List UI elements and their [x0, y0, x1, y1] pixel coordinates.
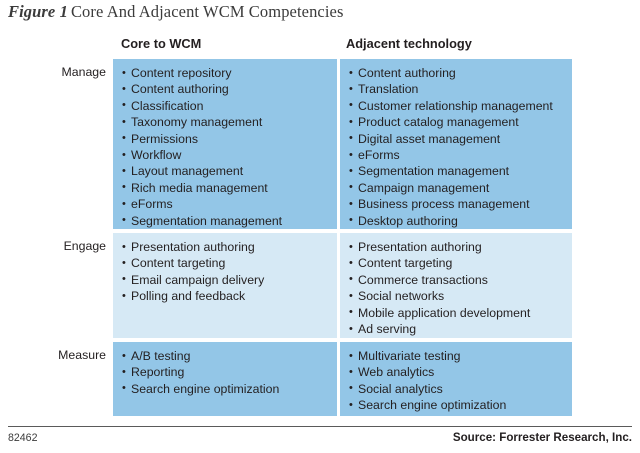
list-item: Layout management	[122, 163, 329, 179]
list-item: Presentation authoring	[122, 239, 329, 255]
list-measure-core: A/B testing Reporting Search engine opti…	[122, 348, 329, 397]
row-label-engage: Engage	[64, 239, 106, 253]
cell-manage-adjacent: Content authoring Translation Customer r…	[340, 59, 572, 229]
list-item: eForms	[349, 147, 564, 163]
row-label-measure: Measure	[58, 348, 106, 362]
matrix-row-engage: Presentation authoring Content targeting…	[113, 233, 572, 338]
figure-container: Figure 1Core And Adjacent WCM Competenci…	[0, 0, 640, 453]
list-item: Content targeting	[349, 255, 564, 271]
list-item: Desktop authoring	[349, 213, 564, 229]
cell-measure-adjacent: Multivariate testing Web analytics Socia…	[340, 342, 572, 416]
list-item: Social networks	[349, 288, 564, 304]
row-label-manage: Manage	[62, 65, 106, 79]
list-item: Classification	[122, 98, 329, 114]
list-item: Taxonomy management	[122, 114, 329, 130]
competency-matrix: Content repository Content authoring Cla…	[113, 59, 572, 420]
list-item: Content authoring	[349, 65, 564, 81]
matrix-row-measure: A/B testing Reporting Search engine opti…	[113, 342, 572, 416]
list-item: Translation	[349, 81, 564, 97]
list-item: eForms	[122, 196, 329, 212]
figure-title-text: Core And Adjacent WCM Competencies	[71, 2, 344, 21]
list-item: Customer relationship management	[349, 98, 564, 114]
footer-figure-number: 82462	[8, 432, 37, 444]
list-item: Commerce transactions	[349, 272, 564, 288]
list-item: Segmentation management	[349, 163, 564, 179]
cell-engage-core: Presentation authoring Content targeting…	[113, 233, 337, 338]
column-header-row: Core to WCM Adjacent technology	[113, 36, 572, 56]
footer-divider	[8, 426, 632, 427]
list-item: Content targeting	[122, 255, 329, 271]
list-item: Segmentation management	[122, 213, 329, 229]
list-item: Product catalog management	[349, 114, 564, 130]
figure-label: Figure 1	[8, 2, 68, 21]
list-item: Permissions	[122, 131, 329, 147]
cell-manage-core: Content repository Content authoring Cla…	[113, 59, 337, 229]
column-header-adjacent: Adjacent technology	[346, 36, 472, 51]
list-item: Business process management	[349, 196, 564, 212]
cell-engage-adjacent: Presentation authoring Content targeting…	[340, 233, 572, 338]
list-engage-core: Presentation authoring Content targeting…	[122, 239, 329, 305]
list-item: Multivariate testing	[349, 348, 564, 364]
page-title: Figure 1Core And Adjacent WCM Competenci…	[8, 2, 344, 22]
matrix-row-manage: Content repository Content authoring Cla…	[113, 59, 572, 229]
list-item: Polling and feedback	[122, 288, 329, 304]
column-header-core: Core to WCM	[121, 36, 201, 51]
list-item: Reporting	[122, 364, 329, 380]
list-manage-adjacent: Content authoring Translation Customer r…	[349, 65, 564, 229]
cell-measure-core: A/B testing Reporting Search engine opti…	[113, 342, 337, 416]
list-engage-adjacent: Presentation authoring Content targeting…	[349, 239, 564, 337]
list-item: Social analytics	[349, 381, 564, 397]
list-item: Digital asset management	[349, 131, 564, 147]
list-measure-adjacent: Multivariate testing Web analytics Socia…	[349, 348, 564, 414]
list-manage-core: Content repository Content authoring Cla…	[122, 65, 329, 229]
list-item: Mobile application development	[349, 305, 564, 321]
list-item: A/B testing	[122, 348, 329, 364]
list-item: Content repository	[122, 65, 329, 81]
footer-source: Source: Forrester Research, Inc.	[453, 431, 632, 444]
list-item: Search engine optimization	[349, 397, 564, 413]
list-item: Search engine optimization	[122, 381, 329, 397]
list-item: Ad serving	[349, 321, 564, 337]
list-item: Campaign management	[349, 180, 564, 196]
list-item: Content authoring	[122, 81, 329, 97]
list-item: Rich media management	[122, 180, 329, 196]
list-item: Web analytics	[349, 364, 564, 380]
list-item: Workflow	[122, 147, 329, 163]
list-item: Presentation authoring	[349, 239, 564, 255]
list-item: Email campaign delivery	[122, 272, 329, 288]
